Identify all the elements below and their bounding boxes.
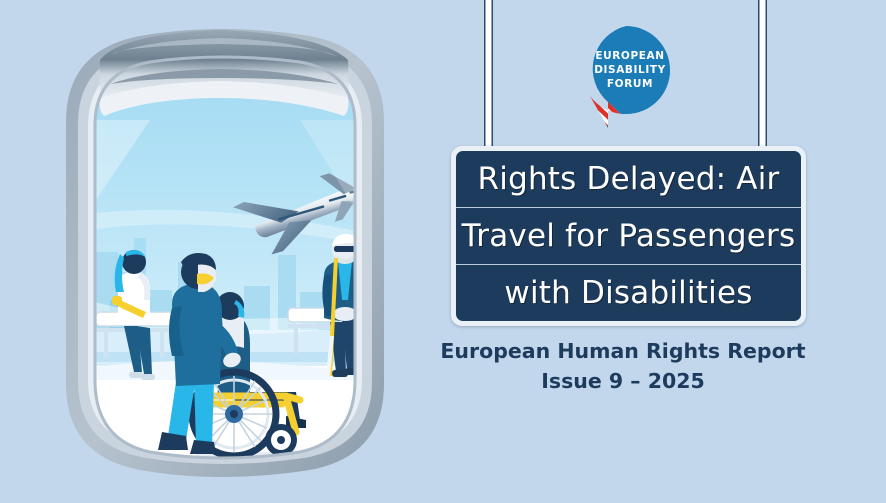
title-sign: Rights Delayed: Air Travel for Passenger… <box>451 146 806 326</box>
title-line-2: Travel for Passengers <box>456 207 801 264</box>
subtitle-line-1: European Human Rights Report <box>440 336 806 366</box>
sign-post-left <box>484 0 493 160</box>
logo-bubble <box>578 22 674 132</box>
cover-text-panel: EUROPEAN DISABILITY FORUM Rights Delayed… <box>440 0 886 498</box>
report-subtitle: European Human Rights Report Issue 9 – 2… <box>440 336 806 396</box>
logo-line-2: DISABILITY <box>594 64 666 76</box>
airplane-window-illustration <box>0 0 440 498</box>
logo-line-3: FORUM <box>607 78 653 90</box>
subtitle-line-2: Issue 9 – 2025 <box>440 366 806 396</box>
european-disability-forum-logo: EUROPEAN DISABILITY FORUM <box>578 22 674 132</box>
report-cover: EUROPEAN DISABILITY FORUM Rights Delayed… <box>0 0 886 498</box>
window-glass <box>88 50 395 462</box>
logo-line-1: EUROPEAN <box>595 50 664 62</box>
wheelchair-caster <box>265 424 297 456</box>
title-line-3: with Disabilities <box>456 264 801 321</box>
sign-post-right <box>758 0 767 160</box>
title-line-1: Rights Delayed: Air <box>456 151 801 207</box>
